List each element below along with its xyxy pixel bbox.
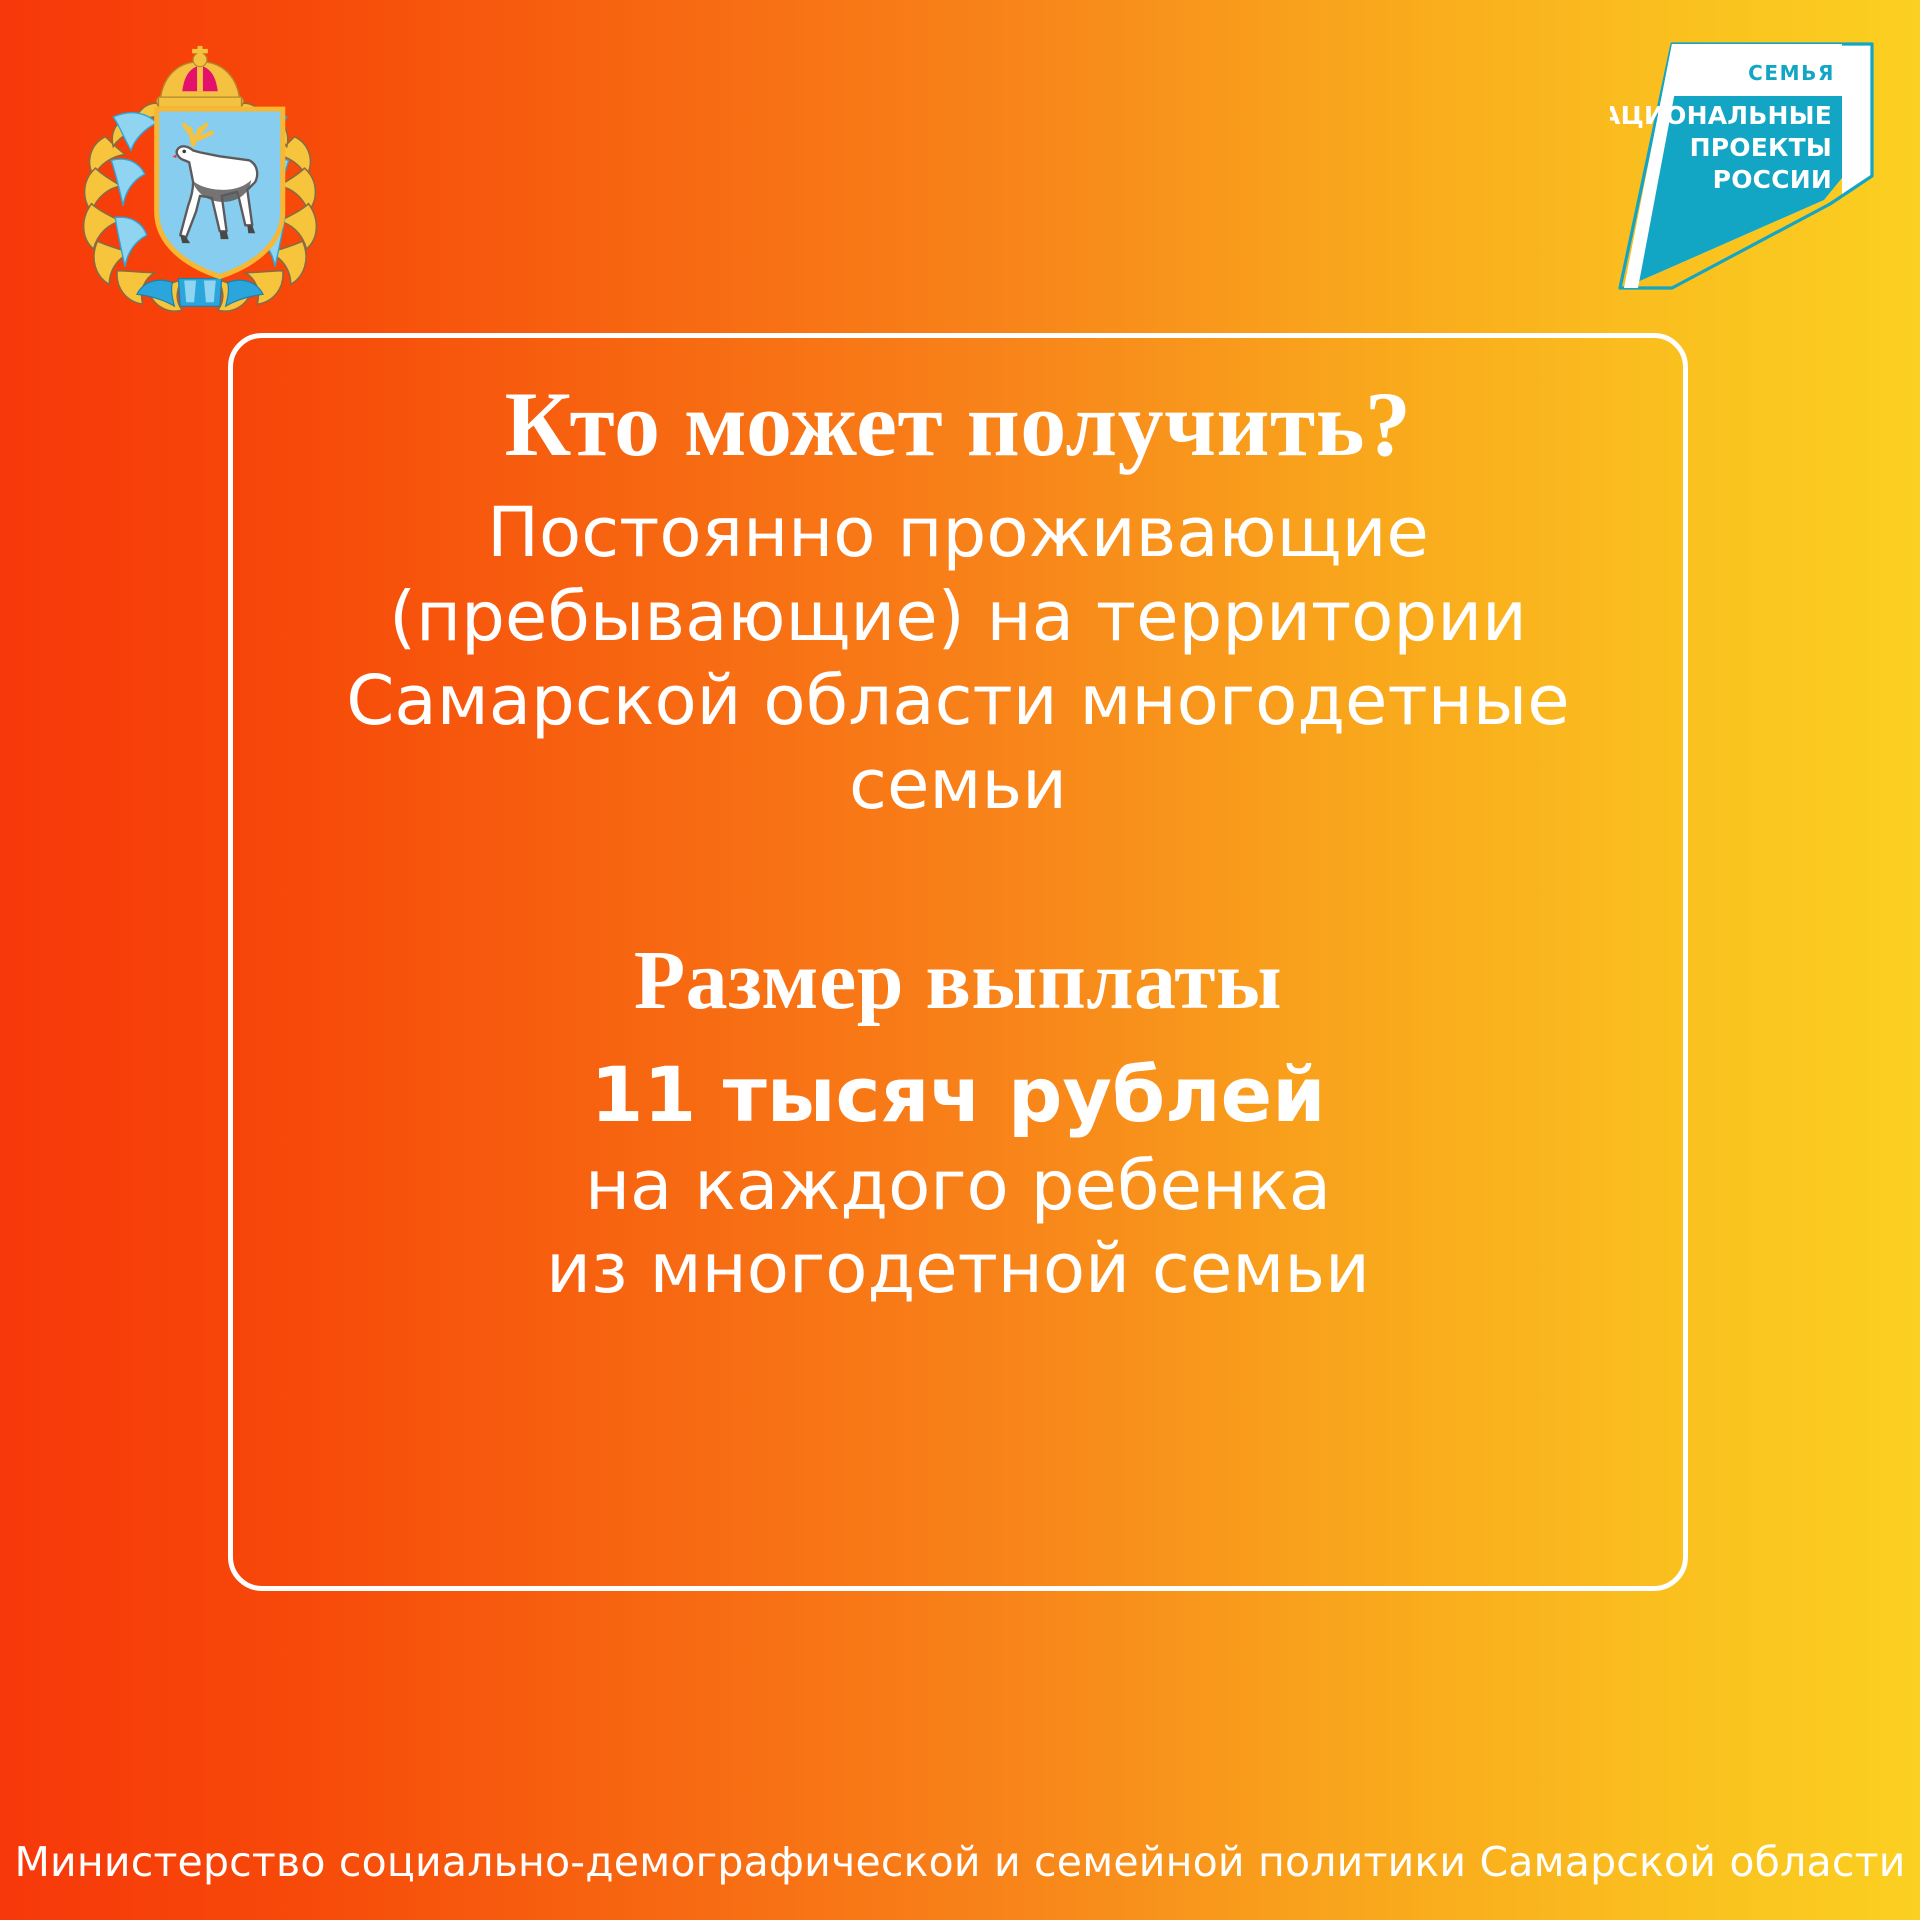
content-frame: Кто может получить? Постоянно проживающи… [228,333,1688,1591]
np-logo-line1: НАЦИОНАЛЬНЫЕ [1610,101,1832,130]
content-inner: Кто может получить? Постоянно проживающи… [233,338,1683,1586]
eligibility-text: Постоянно проживающие (пребывающие) на т… [313,491,1603,828]
who-can-get-title: Кто может получить? [505,376,1412,473]
payment-size-title: Размер выплаты [634,937,1282,1025]
poster-canvas: СЕМЬЯ НАЦИОНАЛЬНЫЕ ПРОЕКТЫ РОССИИ Кто мо… [0,0,1920,1920]
samara-coat-of-arms-icon [62,42,338,318]
payment-detail-line2: из многодетной семьи [546,1228,1370,1311]
np-logo-line3: РОССИИ [1713,165,1832,194]
payment-amount: 11 тысяч рублей [591,1051,1326,1138]
payment-detail: на каждого ребенка из многодетной семьи [546,1145,1370,1311]
np-logo-line2: ПРОЕКТЫ [1690,133,1832,162]
np-logo-kicker: СЕМЬЯ [1748,61,1835,85]
national-projects-logo: СЕМЬЯ НАЦИОНАЛЬНЫЕ ПРОЕКТЫ РОССИИ [1610,38,1880,298]
footer-ministry-text: Министерство социально-демографической и… [0,1838,1920,1886]
payment-detail-line1: на каждого ребенка [546,1145,1370,1228]
